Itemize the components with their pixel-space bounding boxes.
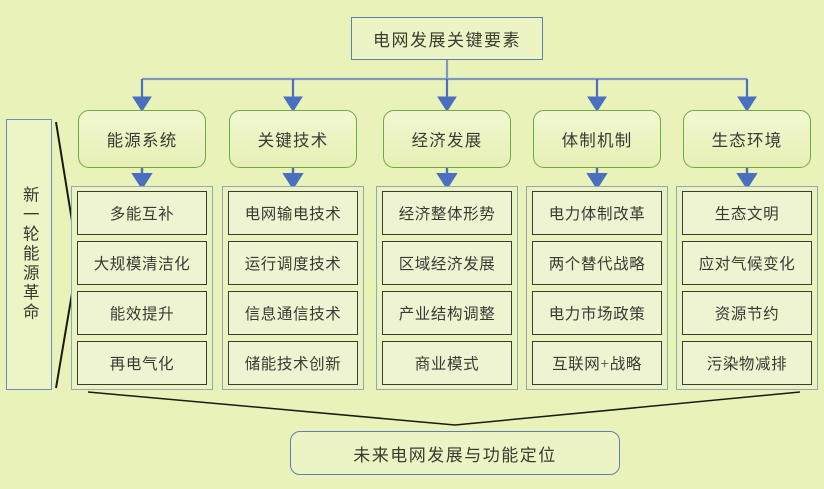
category-header-label: 能源系统	[107, 127, 178, 151]
category-header-institutional-mechanism[interactable]: 体制机制	[533, 110, 661, 168]
category-header-label: 关键技术	[258, 127, 329, 151]
leaf-item-label: 大规模清洁化	[94, 252, 191, 274]
root-node[interactable]: 电网发展关键要素	[351, 17, 543, 60]
leaf-item-label: 再电气化	[110, 352, 174, 374]
leaf-item-label: 生态文明	[715, 202, 779, 224]
leaf-item-label: 储能技术创新	[245, 352, 342, 374]
column-panel-ecological-environment: 生态文明 应对气候变化 资源节约 污染物减排	[676, 186, 818, 390]
category-header-label: 体制机制	[562, 127, 633, 151]
leaf-item[interactable]: 电力体制改革	[532, 191, 662, 235]
leaf-item[interactable]: 污染物减排	[682, 341, 812, 385]
leaf-item[interactable]: 多能互补	[77, 191, 207, 235]
leaf-item[interactable]: 再电气化	[77, 341, 207, 385]
leaf-item-label: 商业模式	[415, 352, 479, 374]
category-header-ecological-environment[interactable]: 生态环境	[683, 110, 811, 168]
leaf-item-label: 信息通信技术	[245, 302, 342, 324]
leaf-item[interactable]: 信息通信技术	[228, 291, 358, 335]
leaf-item[interactable]: 经济整体形势	[382, 191, 512, 235]
leaf-item-label: 多能互补	[110, 202, 174, 224]
column-panel-energy-system: 多能互补 大规模清洁化 能效提升 再电气化	[71, 186, 213, 390]
leaf-item[interactable]: 生态文明	[682, 191, 812, 235]
leaf-item[interactable]: 商业模式	[382, 341, 512, 385]
left-banner[interactable]: 新一轮能源革命	[6, 119, 52, 390]
leaf-item-label: 应对气候变化	[699, 252, 796, 274]
leaf-item-label: 资源节约	[715, 302, 779, 324]
leaf-item[interactable]: 两个替代战略	[532, 241, 662, 285]
connector-funnel-left	[88, 392, 455, 425]
category-header-key-technology[interactable]: 关键技术	[229, 110, 357, 168]
column-panel-key-technology: 电网输电技术 运行调度技术 信息通信技术 储能技术创新	[222, 186, 364, 390]
leaf-item-label: 电力体制改革	[549, 202, 646, 224]
leaf-item[interactable]: 储能技术创新	[228, 341, 358, 385]
leaf-item-label: 区域经济发展	[399, 252, 496, 274]
leaf-item[interactable]: 应对气候变化	[682, 241, 812, 285]
leaf-item-label: 两个替代战略	[549, 252, 646, 274]
bottom-node-label: 未来电网发展与功能定位	[353, 441, 557, 466]
leaf-item[interactable]: 资源节约	[682, 291, 812, 335]
leaf-item[interactable]: 电网输电技术	[228, 191, 358, 235]
root-node-label: 电网发展关键要素	[373, 26, 521, 51]
leaf-item-label: 运行调度技术	[245, 252, 342, 274]
leaf-item[interactable]: 大规模清洁化	[77, 241, 207, 285]
connector-funnel-right	[455, 392, 800, 425]
bottom-node[interactable]: 未来电网发展与功能定位	[290, 431, 620, 475]
column-panel-economic-development: 经济整体形势 区域经济发展 产业结构调整 商业模式	[376, 186, 518, 390]
leaf-item-label: 污染物减排	[707, 352, 788, 374]
leaf-item-label: 电力市场政策	[549, 302, 646, 324]
diagram-canvas: 电网发展关键要素 新一轮能源革命 能源系统 关键技术 经济发展 体制机制 生态环…	[0, 0, 824, 489]
category-header-economic-development[interactable]: 经济发展	[383, 110, 511, 168]
category-header-label: 生态环境	[712, 127, 783, 151]
leaf-item-label: 互联网+战略	[552, 352, 642, 374]
leaf-item[interactable]: 区域经济发展	[382, 241, 512, 285]
leaf-item-label: 能效提升	[110, 302, 174, 324]
column-panel-institutional-mechanism: 电力体制改革 两个替代战略 电力市场政策 互联网+战略	[526, 186, 668, 390]
leaf-item-label: 产业结构调整	[399, 302, 496, 324]
leaf-item-label: 经济整体形势	[399, 202, 496, 224]
leaf-item-label: 电网输电技术	[245, 202, 342, 224]
leaf-item[interactable]: 产业结构调整	[382, 291, 512, 335]
category-header-label: 经济发展	[412, 127, 483, 151]
left-banner-label: 新一轮能源革命	[21, 186, 38, 323]
leaf-item[interactable]: 能效提升	[77, 291, 207, 335]
leaf-item[interactable]: 互联网+战略	[532, 341, 662, 385]
category-header-energy-system[interactable]: 能源系统	[78, 110, 206, 168]
leaf-item[interactable]: 运行调度技术	[228, 241, 358, 285]
leaf-item[interactable]: 电力市场政策	[532, 291, 662, 335]
